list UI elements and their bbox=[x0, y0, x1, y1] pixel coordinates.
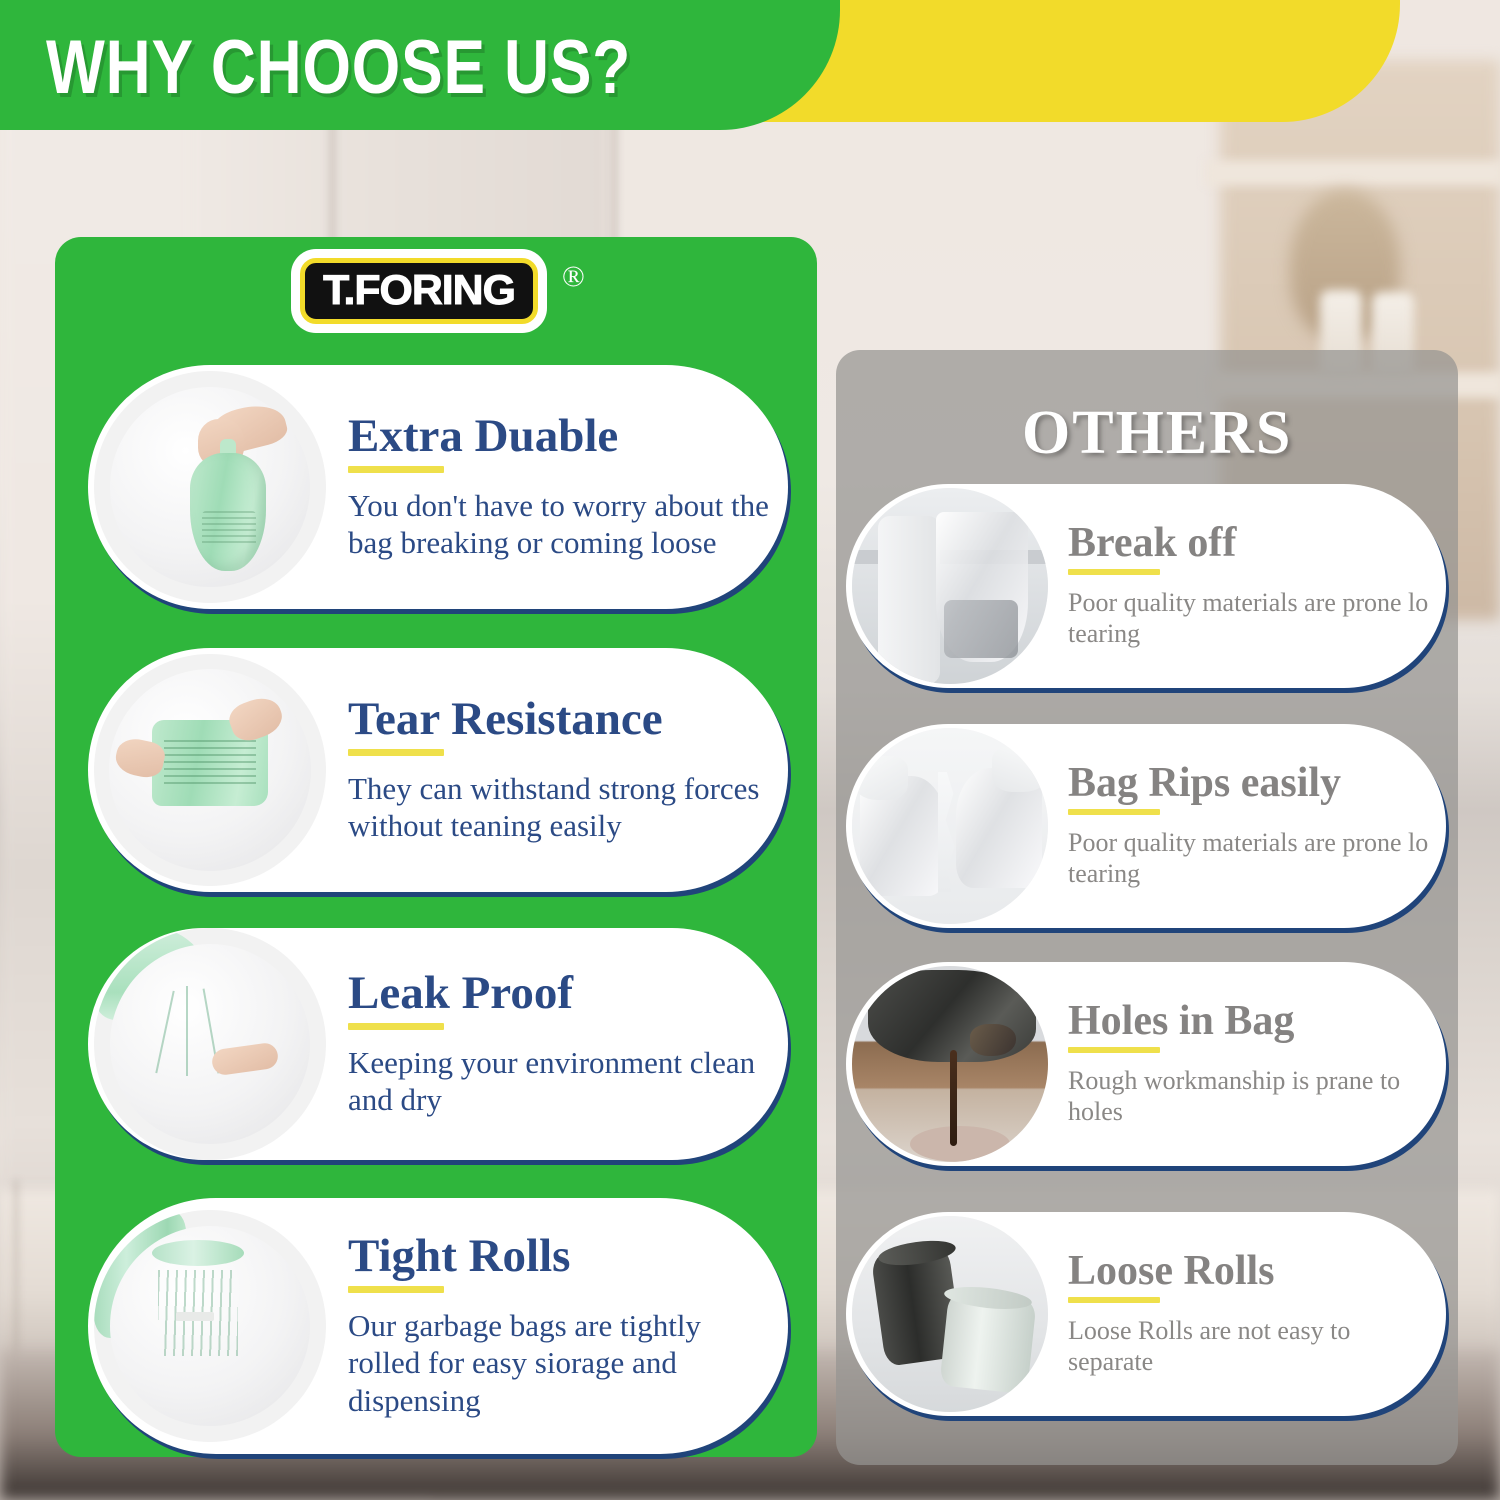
other-description: Loose Rolls are not easy to separate bbox=[1068, 1315, 1432, 1378]
photo-liquid-drip bbox=[950, 1050, 957, 1146]
photo-left-hand bbox=[852, 756, 908, 800]
other-card-loose-rolls[interactable]: Loose Rolls Loose Rolls are not easy to … bbox=[846, 1212, 1446, 1416]
hand-holding-green-bag-photo bbox=[94, 371, 326, 603]
feature-title: Tight Rolls bbox=[348, 1233, 770, 1281]
photo-bag-print bbox=[202, 511, 256, 547]
black-bag-leaking-photo bbox=[852, 966, 1048, 1162]
photo-plate bbox=[110, 944, 310, 1144]
registered-trademark-icon: ® bbox=[562, 260, 585, 294]
feature-description: Keeping your environment clean and dry bbox=[348, 1044, 770, 1118]
feature-card-tight-rolls[interactable]: Tight Rolls Our garbage bags are tightly… bbox=[88, 1198, 788, 1454]
brand-logo: T.FORING ® bbox=[300, 258, 585, 324]
photo-roll-top bbox=[152, 1240, 244, 1266]
photo-roll-label bbox=[176, 1312, 214, 1321]
logo-text: T.FORING bbox=[323, 269, 515, 311]
feature-description: Our garbage bags are tightly rolled for … bbox=[348, 1307, 770, 1419]
title-underline-accent bbox=[1068, 1297, 1160, 1303]
other-title: Holes in Bag bbox=[1068, 1000, 1432, 1043]
feature-card-tear-resistance[interactable]: Tear Resistance They can withstand stron… bbox=[88, 648, 788, 892]
other-card-bag-rips-easily[interactable]: Bag Rips easily Poor quality materials a… bbox=[846, 724, 1446, 928]
other-description: Rough workmanship is prane to holes bbox=[1068, 1065, 1432, 1128]
other-card-break-off[interactable]: Break off Poor quality materials are pro… bbox=[846, 484, 1446, 688]
other-card-holes-in-bag[interactable]: Holes in Bag Rough workmanship is prane … bbox=[846, 962, 1446, 1166]
other-title: Break off bbox=[1068, 522, 1432, 565]
title-underline-accent bbox=[1068, 809, 1160, 815]
gathered-green-bag-photo bbox=[94, 928, 326, 1160]
other-description: Poor quality materials are prone lo tear… bbox=[1068, 827, 1432, 890]
logo-pill: T.FORING bbox=[300, 258, 538, 324]
feature-card-leak-proof[interactable]: Leak Proof Keeping your environment clea… bbox=[88, 928, 788, 1160]
photo-bag-fold bbox=[186, 986, 188, 1076]
loose-bag-rolls-photo bbox=[852, 1216, 1048, 1412]
feature-title: Leak Proof bbox=[348, 970, 770, 1018]
others-title: OTHERS bbox=[1022, 398, 1292, 469]
hands-stretching-green-bag-photo bbox=[94, 654, 326, 886]
title-underline-accent bbox=[348, 466, 444, 473]
photo-bag-print bbox=[164, 740, 256, 788]
green-bag-roll-photo bbox=[94, 1210, 326, 1442]
other-title: Loose Rolls bbox=[1068, 1250, 1432, 1293]
hands-ripping-clear-bag-photo bbox=[852, 728, 1048, 924]
photo-right-hand bbox=[992, 746, 1048, 792]
other-description: Poor quality materials are prone lo tear… bbox=[1068, 587, 1432, 650]
photo-trash-contents bbox=[944, 600, 1018, 658]
title-underline-accent bbox=[1068, 569, 1160, 575]
other-title: Bag Rips easily bbox=[1068, 762, 1432, 805]
background-shelf-plank bbox=[1205, 160, 1500, 186]
feature-description: They can withstand strong forces without… bbox=[348, 770, 770, 844]
feature-title: Extra Duable bbox=[348, 413, 770, 461]
page-title: WHY CHOOSE US? bbox=[46, 24, 631, 111]
photo-person bbox=[878, 516, 940, 684]
feature-card-extra-duable[interactable]: Extra Duable You don't have to worry abo… bbox=[88, 365, 788, 609]
feature-title: Tear Resistance bbox=[348, 696, 770, 744]
title-underline-accent bbox=[348, 1023, 444, 1030]
photo-liquid-pool bbox=[910, 1126, 1010, 1162]
title-underline-accent bbox=[1068, 1047, 1160, 1053]
title-underline-accent bbox=[348, 749, 444, 756]
feature-description: You don't have to worry about the bag br… bbox=[348, 487, 770, 561]
photo-bag-spout bbox=[970, 1024, 1016, 1056]
person-holding-clear-bag-photo bbox=[852, 488, 1048, 684]
title-underline-accent bbox=[348, 1286, 444, 1293]
